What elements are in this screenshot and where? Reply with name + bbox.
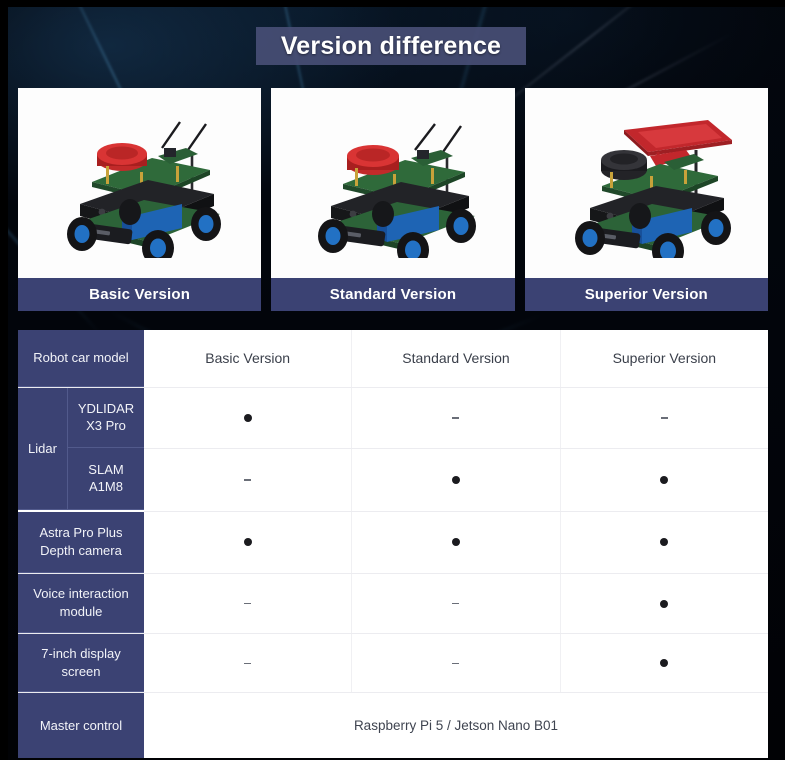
table-row-master-control: Master control Raspberry Pi 5 / Jetson N… [18,693,768,758]
row-label-astra-line2: Depth camera [40,543,122,558]
row-label-slam: SLAM A1M8 [68,448,144,510]
cell-slam-standard [352,449,560,511]
supported-dot-icon [660,600,668,608]
row-label-ydlidar-line1: YDLIDAR [78,401,134,416]
not-supported-dash-icon [452,603,459,605]
lidar-group-right [144,388,768,512]
version-card-superior[interactable]: Superior Version [525,88,768,311]
robot-car-photo-basic [18,88,261,278]
cell-display-basic [144,634,352,692]
supported-dot-icon [660,538,668,546]
cell-voice-superior [561,574,768,634]
cell-ydlidar-superior [561,388,768,448]
lidar-group-label: Lidar [18,388,68,510]
cell-astra-basic [144,512,352,573]
supported-dot-icon [660,476,668,484]
row-label-ydlidar-line2: X3 Pro [86,418,126,433]
not-supported-dash-icon [452,417,459,419]
column-header-standard: Standard Version [352,330,560,387]
version-card-label-standard: Standard Version [271,278,514,311]
row-label-astra-line1: Astra Pro Plus [39,525,122,540]
not-supported-dash-icon [244,663,251,665]
version-difference-page: Version difference [0,0,785,760]
row-label-master-control: Master control [18,693,144,758]
row-label-astra: Astra Pro Plus Depth camera [18,512,144,573]
table-row-display: 7-inch display screen [18,634,768,693]
version-card-label-superior: Superior Version [525,278,768,311]
robot-car-red-lidar-photo [40,108,240,258]
row-label-slam-line2: A1M8 [89,479,123,494]
version-cards: Basic Version [18,88,768,311]
robot-car-photo-superior [525,88,768,278]
not-supported-dash-icon [244,479,251,481]
supported-dot-icon [244,414,252,422]
lidar-group-block: Lidar YDLIDAR X3 Pro SLAM A1M8 [18,388,768,512]
cell-astra-superior [561,512,768,573]
top-edge-border [0,0,785,7]
row-label-voice-line2: module [60,604,103,619]
version-card-label-basic: Basic Version [18,278,261,311]
lidar-group-left: Lidar YDLIDAR X3 Pro SLAM A1M8 [18,388,144,512]
page-title: Version difference [281,32,501,61]
left-edge-border [0,0,8,760]
cell-astra-standard [352,512,560,573]
row-label-voice: Voice interaction module [18,574,144,634]
cell-master-control-value: Raspberry Pi 5 / Jetson Nano B01 [144,693,768,758]
row-label-display-line2: screen [61,664,100,679]
robot-car-red-lidar-photo [293,108,493,258]
not-supported-dash-icon [452,663,459,665]
cell-ydlidar-standard [352,388,560,448]
row-label-voice-line1: Voice interaction [33,586,128,601]
supported-dot-icon [452,476,460,484]
cell-ydlidar-basic [144,388,352,448]
column-header-basic: Basic Version [144,330,352,387]
row-label-ydlidar: YDLIDAR X3 Pro [68,388,144,448]
row-label-slam-line1: SLAM [88,462,123,477]
cell-slam-superior [561,449,768,511]
version-card-standard[interactable]: Standard Version [271,88,514,311]
page-title-badge: Version difference [256,27,526,65]
table-row-slam [144,449,768,512]
supported-dot-icon [452,538,460,546]
supported-dot-icon [244,538,252,546]
table-row-astra: Astra Pro Plus Depth camera [18,512,768,574]
cell-display-standard [352,634,560,692]
robot-car-black-lidar-display-photo [546,108,746,258]
table-row-ydlidar [144,388,768,449]
not-supported-dash-icon [244,603,251,605]
row-label-display: 7-inch display screen [18,634,144,692]
robot-car-photo-standard [271,88,514,278]
cell-voice-basic [144,574,352,634]
table-corner-label: Robot car model [18,330,144,387]
table-header-row: Robot car model Basic Version Standard V… [18,330,768,388]
not-supported-dash-icon [661,417,668,419]
cell-slam-basic [144,449,352,511]
version-card-basic[interactable]: Basic Version [18,88,261,311]
row-label-display-line1: 7-inch display [41,646,121,661]
table-row-voice: Voice interaction module [18,574,768,635]
cell-display-superior [561,634,768,692]
supported-dot-icon [660,659,668,667]
column-header-superior: Superior Version [561,330,768,387]
cell-voice-standard [352,574,560,634]
comparison-table: Robot car model Basic Version Standard V… [18,330,768,758]
